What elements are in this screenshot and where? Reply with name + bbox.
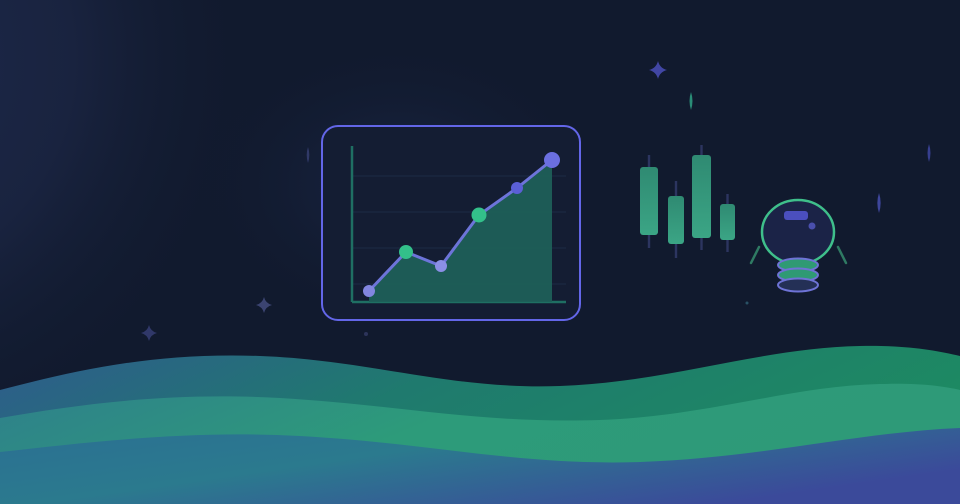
illustration-canvas xyxy=(0,0,960,504)
background-waves xyxy=(0,0,960,504)
